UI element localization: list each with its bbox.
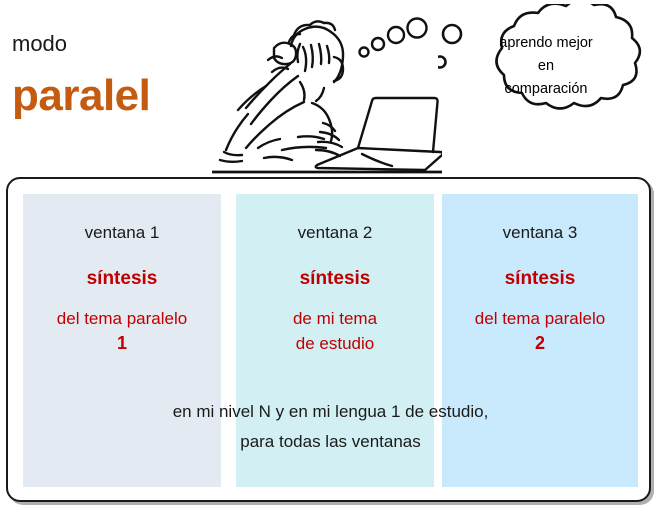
thought-bubble-line-1: aprendo mejor	[468, 32, 624, 55]
window-synthesis-3: síntesis	[442, 267, 638, 291]
window-synthesis-2: síntesis	[236, 267, 434, 291]
header-area: modo paralel	[0, 0, 657, 177]
window-detail-3-line-1: del tema paralelo	[475, 309, 605, 328]
window-detail-1-line-1: del tema paralelo	[57, 309, 187, 328]
student-at-laptop-illustration	[212, 2, 442, 180]
window-detail-2: de mi tema de estudio	[236, 306, 434, 356]
thought-bubble-line-3: comparación	[468, 78, 624, 101]
window-column-1[interactable]: ventana 1 síntesis del tema paralelo 1	[23, 194, 221, 487]
window-column-2[interactable]: ventana 2 síntesis de mi tema de estudio	[236, 194, 434, 487]
window-column-3[interactable]: ventana 3 síntesis del tema paralelo 2	[442, 194, 638, 487]
mode-label: modo	[12, 31, 67, 57]
mode-name-title: paralel	[12, 70, 150, 122]
window-synthesis-1: síntesis	[23, 267, 221, 291]
window-detail-2-line-1: de mi tema	[293, 309, 377, 328]
window-title-1: ventana 1	[23, 222, 221, 244]
window-detail-1-line-2: 1	[23, 331, 221, 356]
thought-bubble-line-2: en	[468, 55, 624, 78]
windows-panel: ventana 1 síntesis del tema paralelo 1 v…	[6, 177, 651, 502]
window-title-2: ventana 2	[236, 222, 434, 244]
window-detail-1: del tema paralelo 1	[23, 306, 221, 356]
window-title-3: ventana 3	[442, 222, 638, 244]
window-detail-3-line-2: 2	[442, 331, 638, 356]
thought-bubble-text: aprendo mejor en comparación	[468, 32, 624, 101]
window-detail-3: del tema paralelo 2	[442, 306, 638, 356]
window-detail-2-line-2: de estudio	[236, 331, 434, 356]
